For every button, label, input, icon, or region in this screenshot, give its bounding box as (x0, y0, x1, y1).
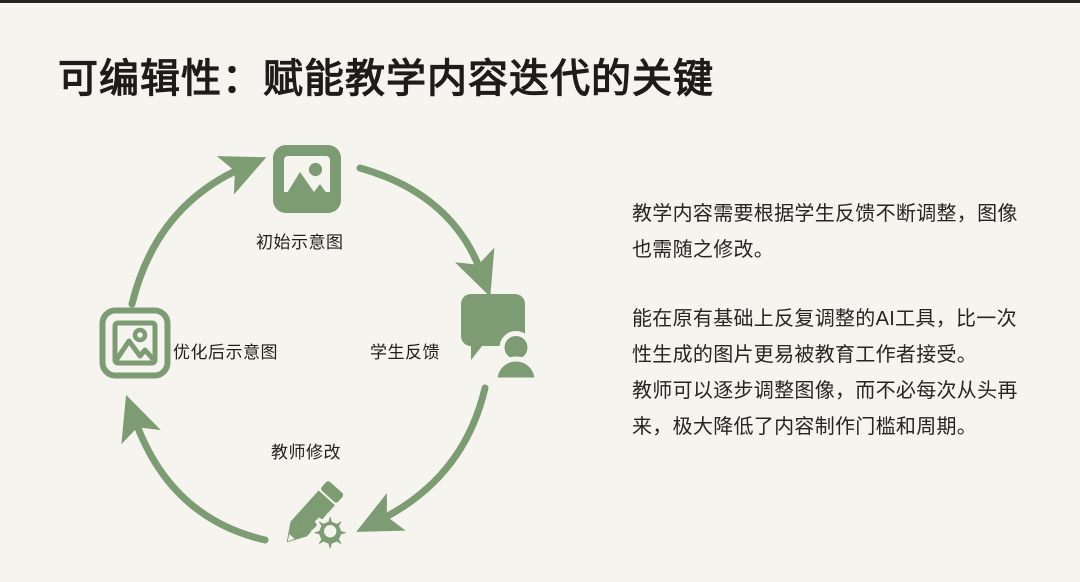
arrow-feedback-to-teacher (380, 388, 485, 520)
arrow-optimized-to-initial (132, 168, 242, 304)
body-paragraph-3: 教师可以逐步调整图像，而不必每次从头再来，极大降低了内容制作门槛和周期。 (632, 373, 1034, 445)
body-paragraph-2: 能在原有基础上反复调整的AI工具，比一次性生成的图片更易被教育工作者接受。 (632, 301, 1034, 373)
image-filled-icon (270, 142, 344, 221)
page-title: 可编辑性：赋能教学内容迭代的关键 (58, 55, 714, 103)
node-label-feedback: 学生反馈 (370, 338, 440, 363)
node-label-optimized: 优化后示意图 (173, 338, 278, 363)
body-text-block: 教学内容需要根据学生反馈不断调整，图像也需随之修改。 能在原有基础上反复调整的A… (632, 196, 1034, 445)
node-label-initial: 初始示意图 (256, 228, 344, 253)
pencil-gear-icon (267, 475, 353, 560)
arrow-initial-to-feedback (360, 168, 481, 272)
image-outline-icon (98, 306, 172, 385)
cycle-diagram: 初始示意图 学生反馈 教师修改 优化后示意图 (60, 120, 600, 570)
top-divider-rule (0, 0, 1080, 3)
body-paragraph-1: 教学内容需要根据学生反馈不断调整，图像也需随之修改。 (632, 196, 1034, 268)
node-label-teacher: 教师修改 (271, 438, 341, 463)
arrow-teacher-to-optimized (135, 420, 265, 540)
slide-canvas: 可编辑性：赋能教学内容迭代的关键 (0, 0, 1080, 582)
speech-bubble-person-icon (455, 292, 545, 385)
